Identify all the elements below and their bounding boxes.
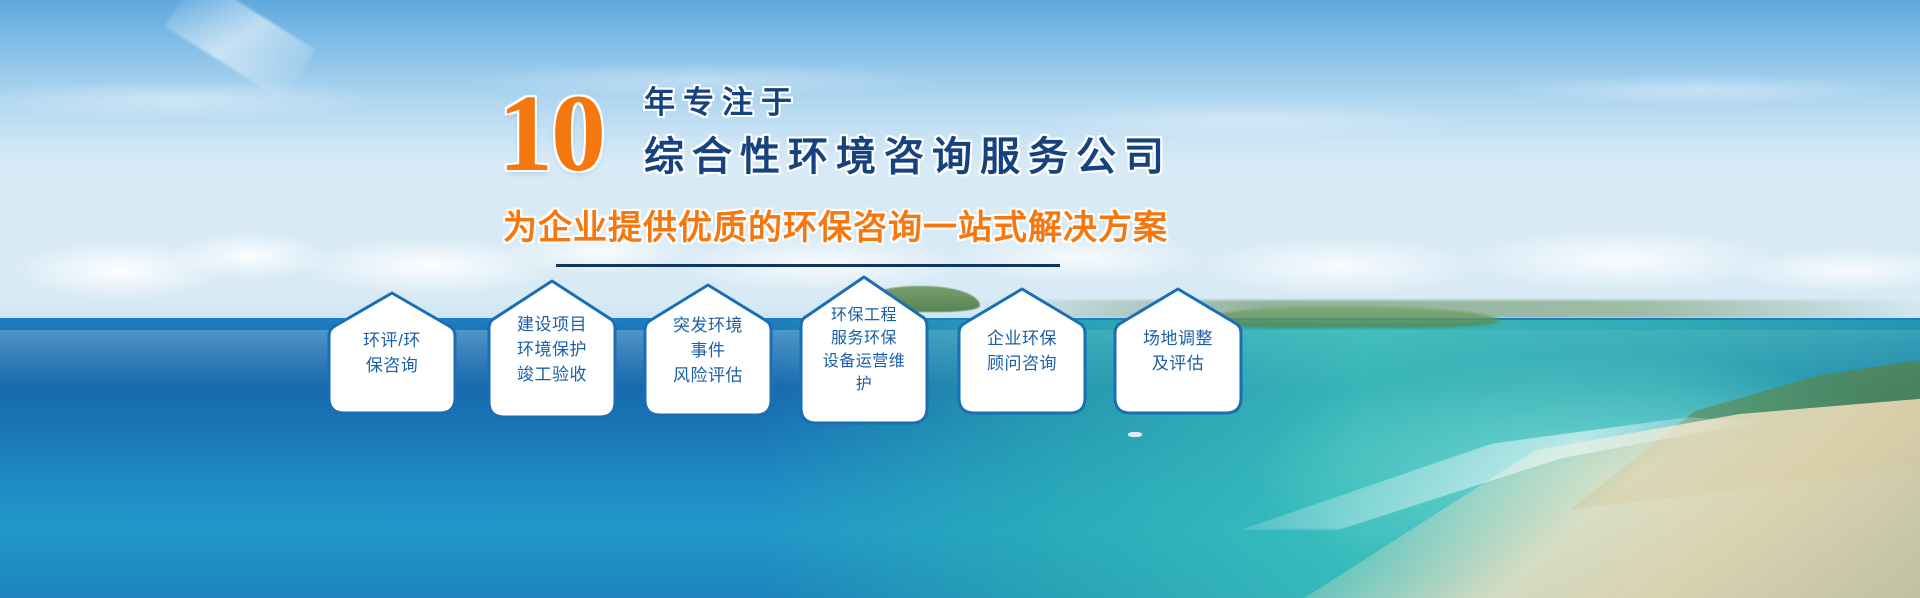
service-badge-hexagon[interactable]: 建设项目 环境保护 竣工验收 xyxy=(486,278,618,420)
service-badge-hexagon[interactable]: 环评/环 保咨询 xyxy=(326,290,458,416)
subtitle-text: 为企业提供优质的环保咨询一站式解决方案 xyxy=(503,206,1168,250)
service-badge-hexagon[interactable]: 场地调整 及评估 xyxy=(1112,286,1244,416)
service-badge-hexagon[interactable]: 突发环境 事件 风险评估 xyxy=(642,282,774,418)
divider-rule xyxy=(556,264,1060,267)
headline-line-2: 综合性环境咨询服务公司 xyxy=(644,132,1172,182)
service-badge-label: 企业环保 顾问咨询 xyxy=(956,286,1088,416)
service-badge-label: 环保工程 服务环保 设备运营维 护 xyxy=(798,274,930,426)
service-badge-label: 环评/环 保咨询 xyxy=(326,290,458,416)
service-badge-hexagon[interactable]: 环保工程 服务环保 设备运营维 护 xyxy=(798,274,930,426)
headline-line-1: 年专注于 xyxy=(644,84,800,122)
service-badge-label: 建设项目 环境保护 竣工验收 xyxy=(486,278,618,420)
service-badge-label: 突发环境 事件 风险评估 xyxy=(642,282,774,418)
years-number: 10 xyxy=(498,78,604,188)
promotional-banner: 10 年专注于 综合性环境咨询服务公司 为企业提供优质的环保咨询一站式解决方案 … xyxy=(0,0,1920,598)
service-badge-label: 场地调整 及评估 xyxy=(1112,286,1244,416)
service-badge-row: 环评/环 保咨询 建设项目 环境保护 竣工验收 突发环境 事件 风险评估 环保工… xyxy=(0,272,1920,452)
service-badge-hexagon[interactable]: 企业环保 顾问咨询 xyxy=(956,286,1088,416)
